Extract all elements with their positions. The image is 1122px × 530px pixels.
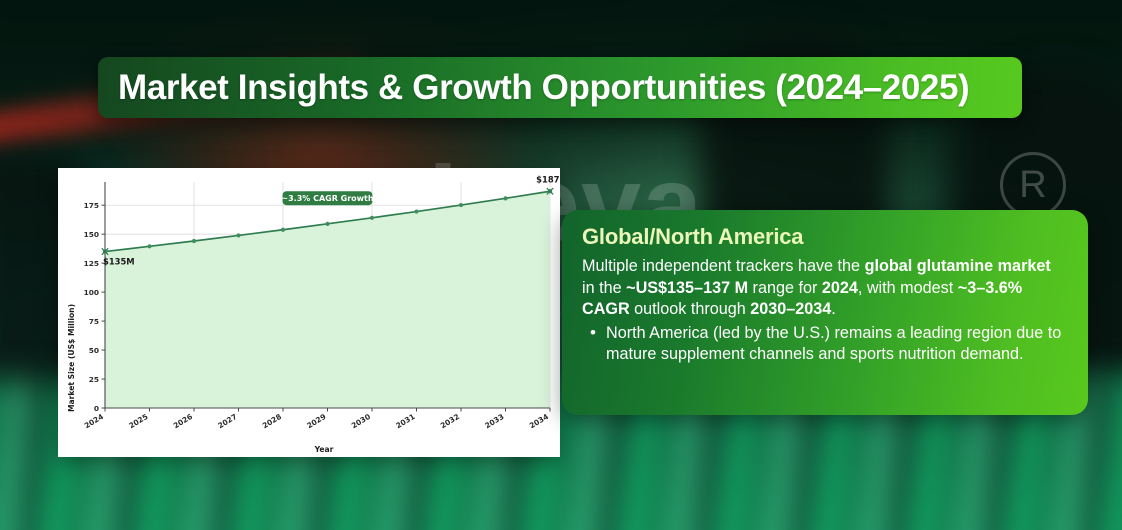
y-tick-label: 100 bbox=[84, 288, 99, 297]
data-point bbox=[236, 233, 240, 237]
y-tick-label: 125 bbox=[84, 259, 99, 268]
panel-text-5: outlook through bbox=[630, 300, 751, 318]
panel-text-6: . bbox=[831, 300, 836, 318]
panel-text-2: in the bbox=[582, 279, 626, 297]
y-tick-label: 50 bbox=[89, 346, 99, 355]
panel-bold-1: global glutamine market bbox=[865, 257, 1051, 275]
title-banner: Market Insights & Growth Opportunities (… bbox=[98, 57, 1022, 118]
y-tick-label: 0 bbox=[94, 404, 99, 413]
panel-bold-2: ~US$135–137 M bbox=[626, 279, 748, 297]
market-size-area-chart: 0255075100125150175 20242025202620272028… bbox=[58, 168, 560, 457]
panel-text-3: range for bbox=[748, 279, 822, 297]
data-point bbox=[503, 196, 507, 200]
x-tick-label: 2025 bbox=[127, 412, 149, 430]
y-tick-label: 25 bbox=[89, 375, 99, 384]
data-point bbox=[370, 216, 374, 220]
x-tick-label: 2027 bbox=[216, 412, 238, 430]
panel-bold-5: 2030–2034 bbox=[750, 300, 831, 318]
end-value-label: $187M bbox=[536, 174, 560, 184]
page-title: Market Insights & Growth Opportunities (… bbox=[118, 68, 969, 108]
info-panel: Global/North America Multiple independen… bbox=[562, 210, 1088, 415]
y-axis-title: Market Size (US$ Million) bbox=[67, 304, 76, 412]
data-point bbox=[147, 244, 151, 248]
x-tick-label: 2032 bbox=[439, 412, 461, 430]
x-tick-label: 2029 bbox=[305, 412, 327, 430]
data-point bbox=[414, 209, 418, 213]
panel-paragraph: Multiple independent trackers have the g… bbox=[582, 256, 1066, 321]
y-tick-label: 75 bbox=[89, 317, 99, 326]
data-point bbox=[325, 222, 329, 226]
x-tick-label: 2033 bbox=[483, 412, 505, 430]
panel-bullet-item: North America (led by the U.S.) remains … bbox=[582, 323, 1066, 366]
infographic-slide: anjeeva mple healthy living R Market Ins… bbox=[0, 0, 1122, 530]
y-tick-label: 150 bbox=[84, 230, 99, 239]
x-tick-label: 2024 bbox=[83, 412, 105, 430]
panel-bold-3: 2024 bbox=[822, 279, 858, 297]
panel-text-4: , with modest bbox=[858, 279, 958, 297]
data-point bbox=[192, 239, 196, 243]
chart-x-tick-labels: 2024202520262027202820292030203120322033… bbox=[83, 412, 550, 430]
x-tick-label: 2034 bbox=[528, 412, 550, 430]
x-tick-label: 2028 bbox=[261, 412, 283, 430]
chart-y-tick-labels: 0255075100125150175 bbox=[84, 201, 99, 413]
data-point bbox=[459, 203, 463, 207]
data-point bbox=[281, 228, 285, 232]
start-value-label: $135M bbox=[103, 257, 135, 267]
panel-bullet-list: North America (led by the U.S.) remains … bbox=[582, 323, 1066, 366]
registered-mark-icon: R bbox=[1000, 152, 1066, 218]
x-axis-title: Year bbox=[314, 445, 334, 454]
x-tick-label: 2026 bbox=[172, 412, 194, 430]
x-tick-label: 2030 bbox=[350, 412, 372, 430]
chart-card: 0255075100125150175 20242025202620272028… bbox=[58, 168, 560, 457]
y-tick-label: 175 bbox=[84, 201, 99, 210]
panel-heading: Global/North America bbox=[582, 224, 1066, 250]
cagr-badge-label: ~3.3% CAGR Growth bbox=[281, 194, 373, 203]
panel-text-1: Multiple independent trackers have the bbox=[582, 257, 865, 275]
x-tick-label: 2031 bbox=[394, 412, 416, 430]
